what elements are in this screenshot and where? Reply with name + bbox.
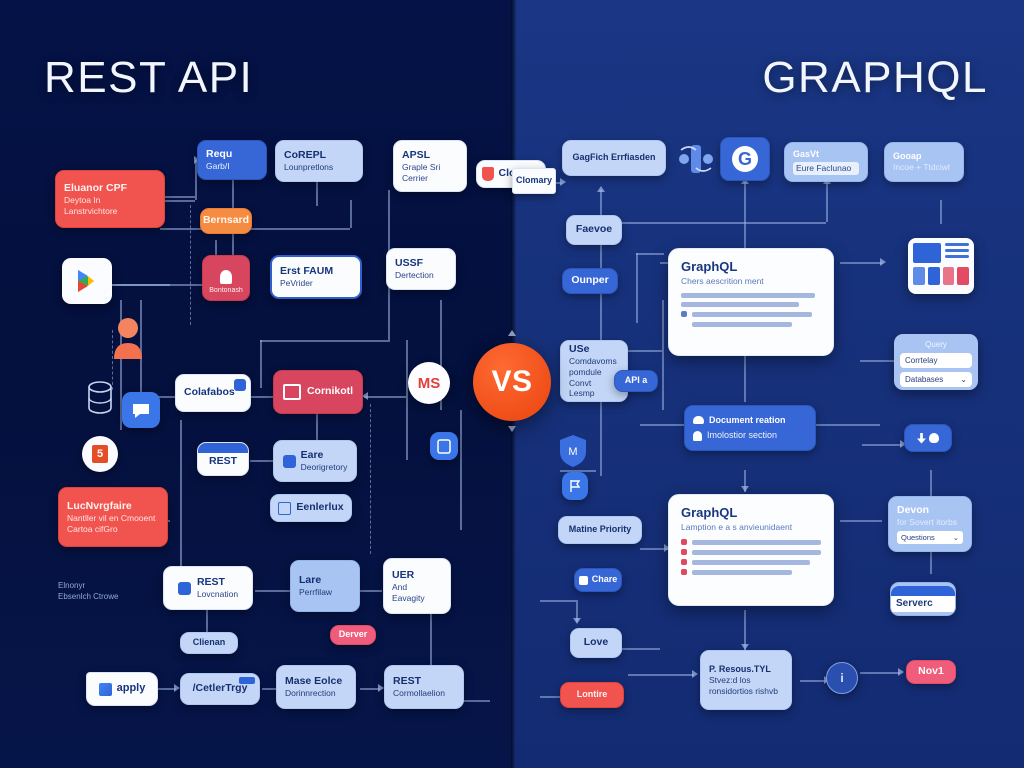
connector <box>316 178 318 206</box>
droplet-icon <box>929 433 939 443</box>
note-label: Elnonyr <box>58 581 85 590</box>
node-category[interactable]: /CetlerTrgy <box>180 673 260 705</box>
node-label: Chare <box>592 574 618 585</box>
node-label: Document reation <box>709 415 786 426</box>
node-label: Bernsard <box>203 214 249 227</box>
flag-icon[interactable] <box>562 472 588 500</box>
node-sublabel: Perrfilaw <box>299 587 351 598</box>
node-sublabel: Imolostior section <box>707 430 777 441</box>
node-rest-consolidation[interactable]: REST Cormollaelion <box>384 665 464 709</box>
card-bullet <box>681 539 821 545</box>
node-sublabel: Comdavoms pomdule Convt Lesmp <box>569 356 619 399</box>
node-label: UER <box>392 569 442 582</box>
node-label: Lontire <box>577 689 608 700</box>
node-config[interactable]: CoREPL Lounpretlons <box>275 140 363 182</box>
connector <box>662 300 664 410</box>
connector <box>628 674 694 676</box>
svg-text:M: M <box>568 446 577 458</box>
connector <box>360 688 380 690</box>
node-firebase[interactable]: Bontonash <box>202 255 250 301</box>
node-gasvt[interactable]: GasVt Eure Faclunao <box>784 142 868 182</box>
google-g-icon: G <box>732 146 758 172</box>
node-label: Faevoe <box>576 223 612 236</box>
node-label: Requ <box>206 148 258 161</box>
node-controller[interactable]: Cornikotl <box>273 370 363 414</box>
bullet-dot <box>681 311 687 317</box>
database-icon <box>86 380 114 416</box>
ms-label: MS <box>418 375 441 392</box>
connector-dashed <box>190 205 191 325</box>
node-sublabel: Lounpretlons <box>284 162 354 173</box>
connector <box>95 284 215 286</box>
html5-glyph: 5 <box>92 445 108 463</box>
chart-icon <box>579 576 588 585</box>
connector-dashed <box>370 404 371 554</box>
node-download[interactable] <box>904 424 952 452</box>
node-label: Matine Priority <box>569 524 632 535</box>
connector <box>260 340 262 388</box>
doc-icon <box>178 582 191 595</box>
image-icon <box>283 384 301 400</box>
node-server[interactable]: Serverc <box>890 582 956 616</box>
node-user-detection[interactable]: USSF Dertection <box>386 248 456 290</box>
connector <box>350 200 352 228</box>
node-backend[interactable]: Bernsard <box>200 208 252 234</box>
node-love[interactable]: Love <box>570 628 622 658</box>
card-title: GraphQL <box>681 259 821 274</box>
badge-icon <box>234 379 246 391</box>
connector <box>840 520 882 522</box>
devon-dropdown[interactable]: Questions ⌄ <box>897 531 963 544</box>
node-first-faun-provider[interactable]: Erst FAUM PeVrider <box>270 255 362 299</box>
connector <box>460 410 462 530</box>
node-nov-badge[interactable]: Nov1 <box>906 660 956 684</box>
node-group[interactable]: Gooap Incoe + Ttdciwl <box>884 142 964 182</box>
page-title-rest: REST API <box>44 56 253 100</box>
shield-icon <box>482 167 494 181</box>
node-label: APSL <box>402 149 458 162</box>
connector <box>826 182 828 222</box>
arrow <box>692 670 698 678</box>
node-label: GagFich Errfiasden <box>572 152 655 163</box>
card-caption: Lamption e a s anvieunidaent <box>681 522 821 532</box>
connector <box>636 253 638 323</box>
bullet-line <box>692 322 792 327</box>
flame-icon <box>220 270 232 284</box>
node-label: /CetlerTrgy <box>193 682 248 695</box>
bullet-line <box>692 312 812 317</box>
bullet-dot <box>681 569 687 575</box>
node-label: API a <box>625 375 648 386</box>
node-label: Erst FAUM <box>280 265 352 278</box>
chevron-down-icon: ⌄ <box>960 375 967 384</box>
infographic-canvas: REST API GRAPHQL Requ Garb <box>0 0 1024 768</box>
node-label: Serverc <box>891 596 955 613</box>
bullet-dot <box>681 559 687 565</box>
node-label: Love <box>584 636 609 649</box>
bullet-line <box>692 550 821 555</box>
connector <box>940 200 942 224</box>
connector <box>840 262 882 264</box>
form-select[interactable]: Databases ⌄ <box>900 372 972 387</box>
node-label: GasVt <box>793 149 859 160</box>
arrow <box>560 178 566 186</box>
widget-lines <box>945 243 969 263</box>
node-label: Derver <box>339 629 368 640</box>
note-sublabel: Ebsenlch Ctrowe <box>58 592 118 601</box>
node-label: REST <box>209 455 237 468</box>
bullet-line <box>692 570 792 575</box>
node-label: Nov1 <box>918 665 944 678</box>
page-title-graphql: GRAPHQL <box>762 56 988 100</box>
connector <box>364 396 406 398</box>
dashboard-widget-icon[interactable] <box>908 238 974 294</box>
arrow <box>880 258 886 266</box>
graphql-info-card-bottom: GraphQL Lamption e a s anvieunidaent <box>668 494 834 606</box>
card-bullet <box>681 569 821 575</box>
bullet-dot <box>681 549 687 555</box>
node-label: USSF <box>395 257 447 270</box>
node-resolver[interactable]: P. Resous.TYL Stvez:d los ronsidortios r… <box>700 650 792 710</box>
node-faevee[interactable]: Faevoe <box>566 215 622 245</box>
graphql-info-card-top: GraphQL Chers aescrition ment <box>668 248 834 356</box>
chevron-down-icon: ⌄ <box>953 533 959 542</box>
play-store-icon[interactable] <box>62 258 112 304</box>
arrow <box>573 618 581 624</box>
connector <box>860 672 900 674</box>
node-sublabel: Graple Sri Cerrier <box>402 162 458 183</box>
node-api-a[interactable]: API a <box>614 370 658 392</box>
node-devon[interactable]: Devon for Sovert itorbs Questions ⌄ <box>888 496 972 552</box>
node-label: Clienan <box>193 637 226 648</box>
node-label: apply <box>117 682 146 696</box>
node-label: Cornikotl <box>307 385 353 398</box>
node-sublabel: Deorigretory <box>301 462 348 473</box>
widget-tiles <box>913 267 969 285</box>
node-sublabel: Nantller vil en Cmooent Cartoa cifGro <box>67 513 159 534</box>
node-sublabel: Stvez:d los ronsidortios rishvb <box>709 675 783 696</box>
arrow <box>898 668 904 676</box>
folder-icon <box>99 683 112 696</box>
user-avatar-icon <box>110 315 146 359</box>
bullet-line <box>692 560 810 565</box>
node-sublabel: Dertection <box>395 270 447 281</box>
info-glyph: i <box>840 671 843 685</box>
vs-badge: VS <box>473 343 551 421</box>
connector <box>232 178 234 210</box>
node-api-graph-carrier[interactable]: APSL Graple Sri Cerrier <box>393 140 467 192</box>
node-chart[interactable]: Chare <box>574 568 622 592</box>
card-caption: Chers aescrition ment <box>681 276 821 286</box>
node-label: Eenlerlux <box>296 501 343 514</box>
person-icon <box>693 431 702 441</box>
node-label: REST <box>393 675 455 688</box>
dropdown-value: Questions <box>901 533 935 542</box>
node-request-get[interactable]: Requ Garb/I <box>197 140 267 180</box>
arrow <box>508 426 516 432</box>
check-icon <box>278 502 291 515</box>
sync-nodes-icon <box>676 140 716 178</box>
node-label: REST <box>197 576 238 589</box>
connector <box>180 420 182 570</box>
node-label: LucNvrgfaire <box>67 500 159 513</box>
node-sublabel: Eure Faclunao <box>793 162 859 175</box>
titlebar <box>891 586 955 596</box>
cloud-upload-icon <box>693 416 704 424</box>
select-value: Databases <box>905 375 943 384</box>
node-security-warning[interactable]: LucNvrgfaire Nantller vil en Cmooent Car… <box>58 487 168 547</box>
query-form-panel[interactable]: Query Corrtelay Databases ⌄ <box>894 334 978 390</box>
form-title: Query <box>900 340 972 349</box>
card-bullet <box>681 549 821 555</box>
input-value: Corrtelay <box>905 356 937 365</box>
node-dumper[interactable]: Ounper <box>562 268 618 294</box>
node-label: Eare <box>301 449 348 462</box>
node-label: Eluanor CPF <box>64 182 156 195</box>
node-collaborators[interactable]: Colafabos <box>175 374 251 412</box>
node-label: USe <box>569 343 619 356</box>
node-summary[interactable]: Clomary <box>512 168 556 194</box>
node-apply-folder[interactable]: apply <box>86 672 158 706</box>
node-label: Gooap <box>893 151 955 162</box>
form-text-input[interactable]: Corrtelay <box>900 353 972 368</box>
badge-icon <box>239 677 255 684</box>
bullet-dot <box>681 321 687 327</box>
connector <box>600 222 826 224</box>
node-sublabel: Incoe + Ttdciwl <box>893 162 955 173</box>
node-documentation[interactable]: Eare Deorigretory <box>273 440 357 482</box>
node-sublabel: Dorinnrection <box>285 688 347 699</box>
ms-circle-icon[interactable]: MS <box>408 362 450 404</box>
arrow <box>508 330 516 336</box>
node-label: Mase Eolce <box>285 675 347 688</box>
node-uer-availability[interactable]: UER And Eavagity <box>383 558 451 614</box>
html5-badge-icon[interactable]: 5 <box>82 436 118 472</box>
connector <box>255 590 295 592</box>
card-bullet <box>681 311 821 317</box>
connector <box>640 424 686 426</box>
node-sublabel: Cormollaelion <box>393 688 455 699</box>
bullet-line <box>692 540 821 545</box>
node-label: Devon <box>897 504 963 517</box>
node-server-badge[interactable]: Derver <box>330 625 376 645</box>
connector <box>744 182 746 222</box>
node-sublabel: PeVrider <box>280 278 352 289</box>
connector <box>540 600 576 602</box>
connector <box>360 590 382 592</box>
card-body-line <box>681 302 799 307</box>
connector <box>816 424 880 426</box>
shield-badge-icon: M <box>558 434 588 468</box>
node-client-tag[interactable]: Clienan <box>180 632 238 654</box>
card-bullet <box>681 321 821 327</box>
doc-icon <box>283 455 296 468</box>
titlebar <box>198 443 248 453</box>
bullet-dot <box>681 539 687 545</box>
node-made-edge[interactable]: Mase Eolce Dorinnrection <box>276 665 356 709</box>
connector <box>406 340 408 460</box>
node-sublabel: Lovcnation <box>197 589 238 600</box>
node-label: Lare <box>299 574 351 587</box>
node-google[interactable]: G <box>720 137 770 181</box>
widget-chart-block <box>913 243 941 263</box>
node-sublabel: Deytoa In Lanstrvichtore <box>64 195 156 216</box>
node-label: Ounper <box>571 274 608 287</box>
node-sublabel: And Eavagity <box>392 582 442 603</box>
connector <box>862 444 902 446</box>
download-icon <box>917 433 926 444</box>
connector <box>260 340 390 342</box>
node-sublabel: for Sovert itorbs <box>897 517 963 528</box>
node-native-priority[interactable]: Matine Priority <box>558 516 642 544</box>
arrow <box>741 486 749 492</box>
info-circle-icon[interactable]: i <box>826 662 858 694</box>
connector <box>620 648 660 650</box>
node-graphql-emitter[interactable]: GagFich Errfiasden <box>562 140 666 176</box>
node-rest-implementation[interactable]: REST Lovcnation <box>163 566 253 610</box>
node-browser-note: Elnonyr Ebsenlch Ctrowe <box>58 580 150 602</box>
document-blue-icon[interactable] <box>430 432 458 460</box>
card-title: GraphQL <box>681 505 821 520</box>
node-label: Clomary <box>516 175 552 186</box>
node-client-api-error[interactable]: Eluanor CPF Deytoa In Lanstrvichtore <box>55 170 165 228</box>
node-late-performance[interactable]: Lare Perrfilaw <box>290 560 360 612</box>
connector <box>160 228 350 230</box>
card-bullet <box>681 559 821 565</box>
connector <box>636 253 664 255</box>
node-document-mutation[interactable]: Document reation Imolostior section <box>684 405 816 451</box>
chat-bubble-icon[interactable] <box>122 392 160 428</box>
node-lentire[interactable]: Lontire <box>560 682 624 708</box>
node-sublabel: Garb/I <box>206 161 258 172</box>
node-rest-tag[interactable]: REST <box>197 442 249 476</box>
card-body-line <box>681 293 815 298</box>
arrow <box>597 186 605 192</box>
node-features[interactable]: Eenlerlux <box>270 494 352 522</box>
node-label: P. Resous.TYL <box>709 664 783 675</box>
node-label: Bontonash <box>209 287 242 296</box>
node-label: CoREPL <box>284 149 354 162</box>
